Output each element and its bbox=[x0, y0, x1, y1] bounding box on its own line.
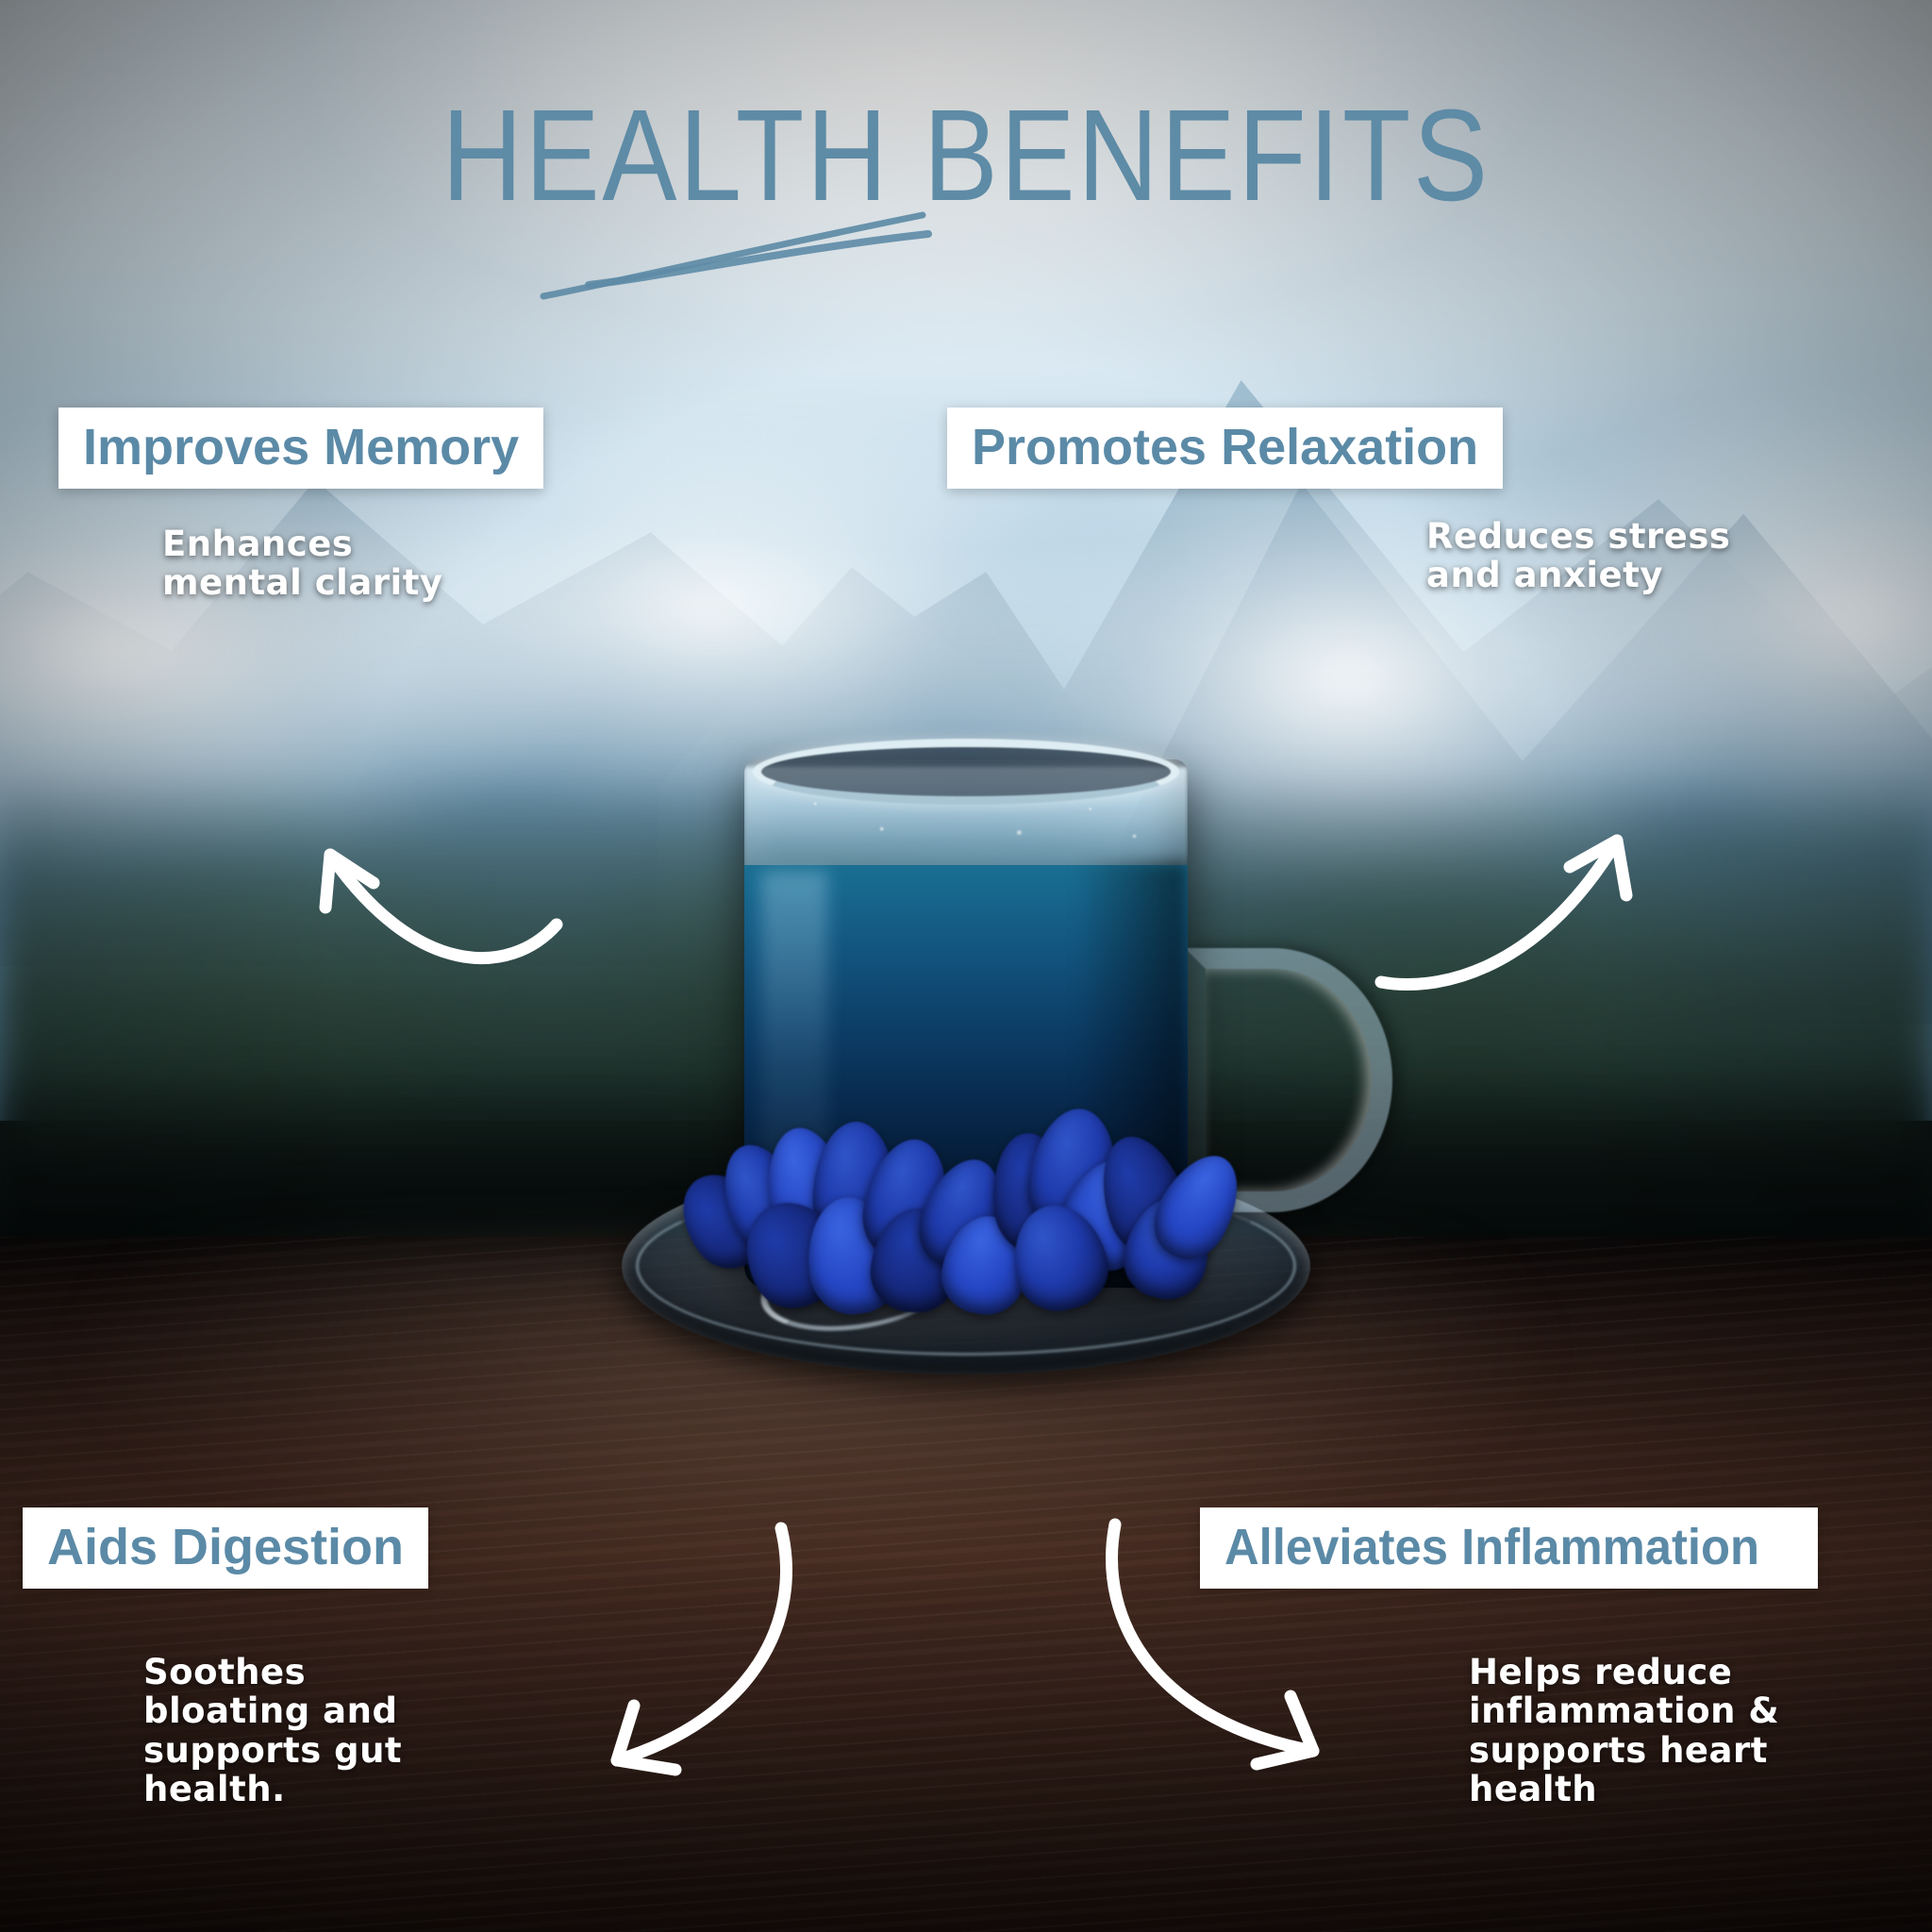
background-photo bbox=[0, 0, 1932, 1932]
cup-rim bbox=[753, 739, 1179, 805]
benefit-label-promotes-relaxation[interactable]: Promotes Relaxation bbox=[947, 408, 1503, 489]
benefit-label-text: Promotes Relaxation bbox=[972, 421, 1478, 474]
benefit-label-text: Improves Memory bbox=[83, 421, 519, 474]
benefit-label-alleviates-inflammation[interactable]: Alleviates Inflammation bbox=[1200, 1507, 1818, 1589]
benefit-caption-aids-digestion: Soothes bloating and supports gut health… bbox=[143, 1653, 402, 1809]
benefit-caption-promotes-relaxation: Reduces stress and anxiety bbox=[1426, 517, 1730, 595]
butterfly-pea-flowers bbox=[636, 1084, 1296, 1320]
benefit-label-text: Aids Digestion bbox=[47, 1521, 404, 1574]
page-title: HEALTH BENEFITS bbox=[135, 91, 1796, 221]
benefit-label-improves-memory[interactable]: Improves Memory bbox=[58, 408, 543, 489]
infographic-poster: HEALTH BENEFITS Improves Memory Promotes… bbox=[0, 0, 1932, 1932]
benefit-label-aids-digestion[interactable]: Aids Digestion bbox=[23, 1507, 428, 1589]
benefit-label-text: Alleviates Inflammation bbox=[1224, 1521, 1759, 1574]
benefit-caption-alleviates-inflammation: Helps reduce inflammation & supports hea… bbox=[1469, 1653, 1779, 1809]
tea-cup-group bbox=[702, 759, 1230, 1363]
benefit-caption-improves-memory: Enhances mental clarity bbox=[162, 525, 443, 603]
